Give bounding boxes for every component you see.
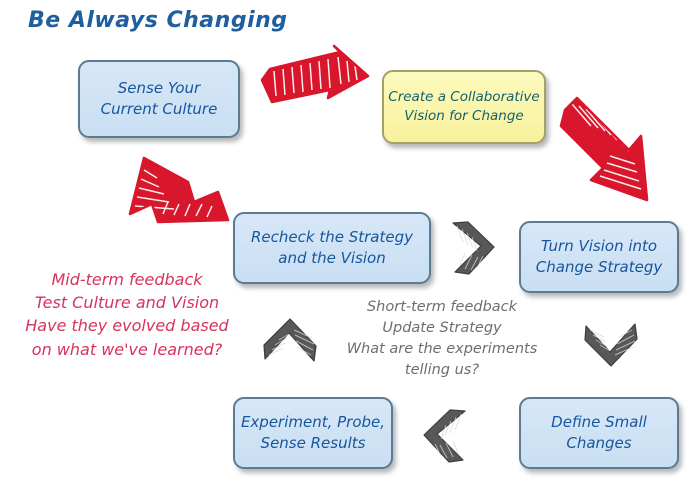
box-turn-vision-into-change-strategy[interactable]: Turn Vision into Change Strategy [519, 221, 679, 293]
box-line-2: Changes [551, 433, 647, 454]
mid-term-feedback-note: Mid-term feedback Test Culture and Visio… [18, 268, 236, 361]
box-line-2: Vision for Change [388, 107, 539, 126]
note-line-3: Have they evolved based [18, 314, 236, 337]
box-line-1: Recheck the Strategy [251, 227, 413, 248]
box-define-small-changes[interactable]: Define Small Changes [519, 397, 679, 469]
note-line-2: Test Culture and Vision [18, 291, 236, 314]
box-line-1: Experiment, Probe, [241, 412, 385, 433]
arrow-culture-to-vision-icon [256, 44, 372, 124]
chevron-turnvision-to-define-icon [583, 320, 639, 370]
short-term-feedback-note: Short-term feedback Update Strategy What… [337, 297, 547, 381]
box-line-2: Sense Results [241, 433, 385, 454]
note-line-4: telling us? [337, 360, 547, 381]
box-line-2: and the Vision [251, 248, 413, 269]
chevron-experiment-to-recheck-icon [262, 315, 318, 365]
box-experiment-probe-sense-results[interactable]: Experiment, Probe, Sense Results [233, 397, 393, 469]
chevron-recheck-to-turnvision-icon [447, 220, 497, 276]
note-line-1: Short-term feedback [337, 297, 547, 318]
arrow-recheck-to-culture-icon [122, 152, 238, 242]
box-line-1: Define Small [551, 412, 647, 433]
note-line-4: on what we've learned? [18, 338, 236, 361]
note-line-2: Update Strategy [337, 318, 547, 339]
box-line-1: Turn Vision into [536, 236, 662, 257]
box-line-1: Sense Your [101, 78, 218, 99]
box-recheck-strategy-and-vision[interactable]: Recheck the Strategy and the Vision [233, 212, 431, 284]
box-line-1: Create a Collaborative [388, 88, 539, 107]
page-title: Be Always Changing [28, 8, 288, 33]
diagram-canvas: Be Always Changing Sense Your Current Cu… [0, 0, 700, 500]
box-create-collaborative-vision[interactable]: Create a Collaborative Vision for Change [382, 70, 546, 144]
chevron-define-to-experiment-icon [421, 408, 471, 464]
note-line-3: What are the experiments [337, 339, 547, 360]
note-line-1: Mid-term feedback [18, 268, 236, 291]
arrow-vision-to-strategy-icon [555, 92, 665, 214]
box-line-2: Current Culture [101, 99, 218, 120]
box-sense-current-culture[interactable]: Sense Your Current Culture [78, 60, 240, 138]
box-line-2: Change Strategy [536, 257, 662, 278]
